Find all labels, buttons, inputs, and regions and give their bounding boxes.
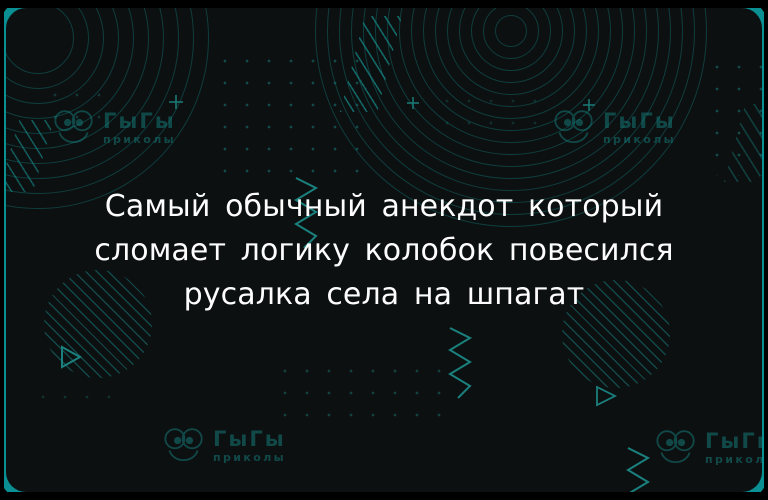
letterbox-right — [764, 0, 768, 500]
letterbox-bottom — [0, 492, 768, 500]
letterbox-top — [0, 0, 768, 8]
letterbox-left — [0, 0, 4, 500]
caption-container: Самый обычный анекдот который сломает ло… — [6, 8, 762, 492]
meme-caption: Самый обычный анекдот который сломает ло… — [34, 185, 734, 317]
card-border: ГыГы приколы ГыГы приколы — [0, 0, 768, 500]
meme-image: ГыГы приколы ГыГы приколы — [0, 0, 768, 500]
card-surface: ГыГы приколы ГыГы приколы — [6, 8, 762, 492]
